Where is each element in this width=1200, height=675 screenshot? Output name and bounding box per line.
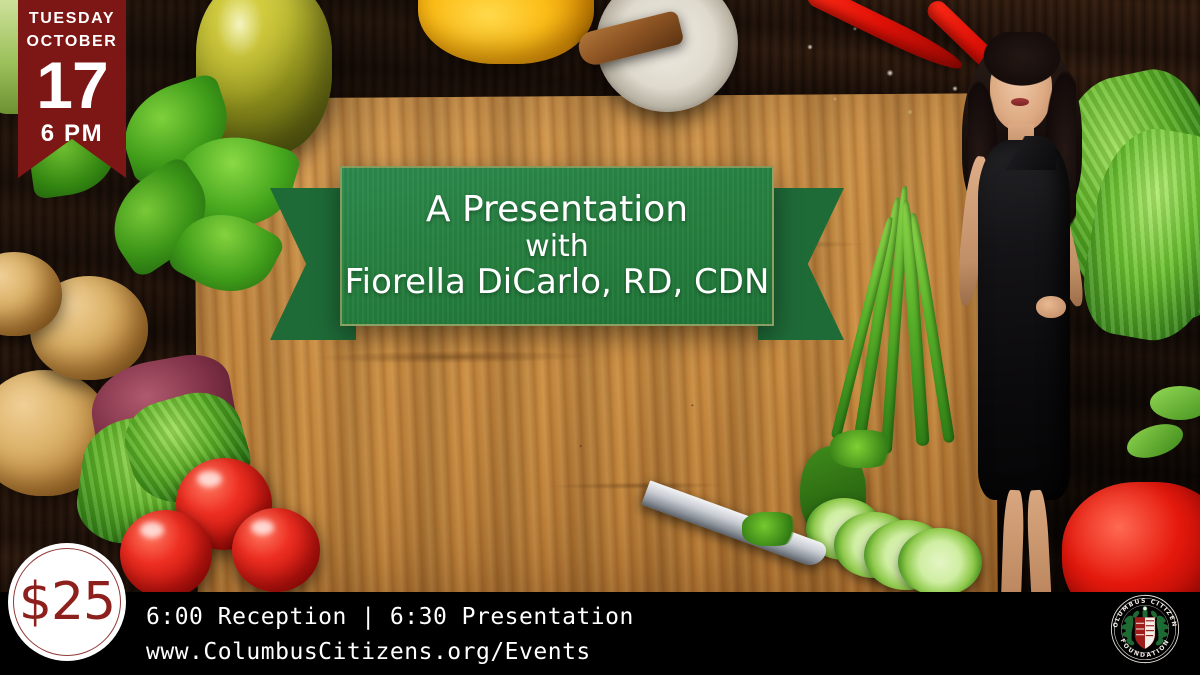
ribbon-body: A Presentation with Fiorella DiCarlo, RD…	[340, 166, 774, 326]
columbus-citizens-foundation-logo: COLUMBUS CITIZENS FOUNDATION	[1104, 588, 1186, 670]
price-amount: $25	[19, 572, 115, 632]
ribbon-title-line-1: A Presentation	[426, 191, 688, 230]
ribbon-title-line-3: Fiorella DiCarlo, RD, CDN	[345, 263, 770, 301]
chopped-parsley	[742, 512, 798, 546]
vine-tomato	[120, 510, 212, 598]
presenter-photo	[948, 28, 1098, 675]
date-day-of-week: TUESDAY	[29, 8, 115, 31]
chopped-parsley	[830, 430, 894, 468]
bottom-info-bar: 6:00 Reception | 6:30 Presentation www.C…	[0, 592, 1200, 675]
presenter-hand-on-hip	[1036, 296, 1066, 318]
event-flyer: TUESDAY OCTOBER 17 6 PM A Presentation w…	[0, 0, 1200, 675]
date-day-number: 17	[36, 54, 107, 117]
event-schedule-text: 6:00 Reception | 6:30 Presentation	[146, 600, 634, 635]
ribbon-title-line-2: with	[525, 230, 589, 264]
vine-tomato	[232, 508, 320, 592]
bottom-bar-text: 6:00 Reception | 6:30 Presentation www.C…	[146, 600, 634, 669]
price-badge: $25	[8, 543, 126, 661]
title-ribbon: A Presentation with Fiorella DiCarlo, RD…	[270, 166, 844, 362]
presenter-black-dress	[978, 140, 1070, 500]
presenter-dress-shoulder	[1004, 136, 1056, 170]
event-website-link[interactable]: www.ColumbusCitizens.org/Events	[146, 635, 634, 670]
